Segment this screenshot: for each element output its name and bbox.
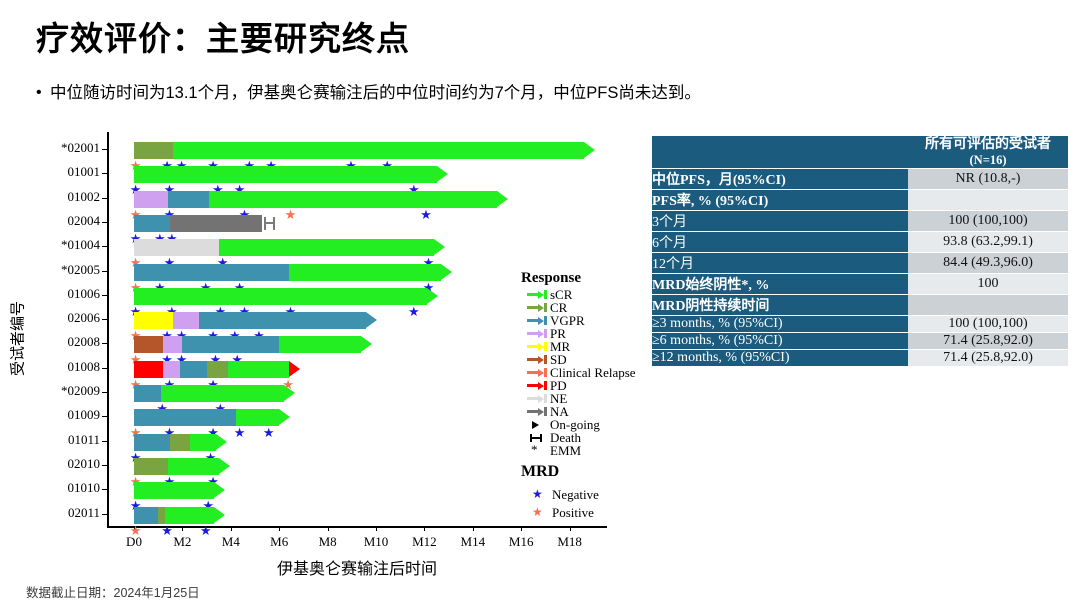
legend-item[interactable]: VGPR [526, 314, 643, 327]
legend-swatch-emm-icon: * [526, 444, 550, 457]
bar-segment-scr [161, 385, 284, 402]
slide-root: 疗效评价：主要研究终点 • 中位随访时间为13.1个月，伊基奥仑赛输注后的中位时… [0, 0, 1080, 616]
bar-segment-vgpr [134, 385, 161, 402]
legend-swatch-pd-icon [526, 379, 550, 392]
bar-segment-vgpr [134, 215, 170, 232]
bar-segment-cr [170, 434, 189, 451]
table-row-value: 100 [908, 274, 1068, 295]
bar-segment-cr [134, 458, 168, 475]
legend-item[interactable]: NE [526, 392, 643, 405]
table-row-value: NR (10.8,-) [908, 169, 1068, 190]
bar-segment-cr [158, 507, 165, 524]
table-row-value: 93.8 (63.2,99.1) [908, 232, 1068, 253]
bar-segment-pr [173, 312, 200, 329]
legend-mrd-items: ★Negative★Positive [518, 485, 643, 521]
table-row-label: 3个月 [652, 211, 908, 232]
table-row-label: PFS率, % (95%CI) [652, 190, 908, 211]
bar-segment-scr [289, 264, 441, 281]
table-row-label: 12个月 [652, 253, 908, 274]
legend-item[interactable]: PD [526, 379, 643, 392]
y-axis-tickmark [102, 198, 107, 199]
table-row-label: 6个月 [652, 232, 908, 253]
table-row-value [908, 190, 1068, 211]
bar-segment-scr [279, 336, 361, 353]
x-axis-tickmark [231, 526, 232, 531]
bar-segment-scr [190, 434, 217, 451]
bar-segment-pd [134, 361, 163, 378]
legend-item[interactable]: *EMM [526, 444, 643, 457]
x-axis-tickmark [570, 526, 571, 531]
progression-arrow-icon [289, 361, 300, 377]
table-row-value [908, 295, 1068, 316]
table-row[interactable] [0, 142, 640, 159]
ongoing-arrow-icon [497, 191, 508, 207]
y-axis-tickmark [102, 222, 107, 223]
table-row-value: 84.4 (49.3,96.0) [908, 253, 1068, 274]
legend-item-label: EMM [550, 444, 581, 457]
bar-segment-scr [228, 361, 289, 378]
legend-response-title: Response [521, 270, 643, 287]
legend-item[interactable]: sCR [526, 288, 643, 301]
bar-segment-scr [209, 191, 497, 208]
legend-swatch-mr-icon [526, 340, 550, 353]
legend-item[interactable]: MR [526, 340, 643, 353]
x-axis-label: 伊基奥仑赛输注后时间 [107, 555, 607, 579]
legend-swatch-clinical-relapse-icon [526, 366, 550, 379]
ongoing-arrow-icon [219, 458, 230, 474]
table-row[interactable]: ≥6 months, % (95%CI)71.4 (25.8,92.0) [652, 333, 1068, 350]
bar-segment-scr [134, 166, 437, 183]
y-axis-tickmark [102, 392, 107, 393]
death-marker-icon [264, 217, 275, 230]
y-axis-tickmark [102, 295, 107, 296]
y-axis-tickmark [102, 343, 107, 344]
bullet-text: 中位随访时间为13.1个月，伊基奥仑赛输注后的中位时间约为7个月，中位PFS尚未… [50, 82, 701, 104]
table-row-label: MRD阴性持续时间 [652, 295, 908, 316]
ongoing-arrow-icon [214, 482, 225, 498]
x-axis-tickmark [279, 526, 280, 531]
bar-segment-scr [173, 142, 584, 159]
bar-segment-cr [207, 361, 229, 378]
bar-segment-vgpr [134, 409, 236, 426]
y-axis-tickmark [102, 319, 107, 320]
legend-item[interactable]: ★Positive [528, 503, 643, 521]
x-axis-tickmark [182, 526, 183, 531]
x-axis-tick-label: M6 [270, 534, 288, 550]
table-row-value: 100 (100,100) [908, 316, 1068, 333]
table-row-value: 100 (100,100) [908, 211, 1068, 232]
legend-swatch-scr-icon [526, 288, 550, 301]
bar-segment-ne [134, 239, 219, 256]
table-row[interactable]: 3个月100 (100,100) [652, 211, 1068, 232]
table-row-label: ≥6 months, % (95%CI) [652, 333, 908, 350]
bar-segment-scr [168, 458, 219, 475]
x-axis-tickmark [473, 526, 474, 531]
legend-item-label: Negative [552, 488, 599, 501]
y-axis-tickmark [102, 514, 107, 515]
mrd-negative-marker-icon: ★ [200, 525, 212, 538]
legend-swatch-pr-icon [526, 327, 550, 340]
legend-item[interactable]: ★Negative [528, 485, 643, 503]
table-row-value: 71.4 (25.8,92.0) [908, 350, 1068, 367]
bar-segment-scr [219, 239, 434, 256]
table-row[interactable]: MRD始终阴性*, %100 [652, 274, 1068, 295]
ongoing-arrow-icon [434, 239, 445, 255]
x-axis-tickmark [521, 526, 522, 531]
table-header-row: 所有可评估的受试者(N=16) [652, 136, 1068, 169]
x-axis-tickmark [328, 526, 329, 531]
footer-note: 数据截止日期：2024年1月25日 [26, 582, 200, 601]
bar-segment-na [170, 215, 262, 232]
legend-mrd-negative-icon: ★ [528, 488, 552, 501]
swimmer-plot: 受试者编号 *02001010010100202004*01004*020050… [0, 130, 640, 570]
table-row[interactable] [0, 215, 640, 232]
bar-segment-vgpr [134, 434, 170, 451]
ongoing-arrow-icon [584, 142, 595, 158]
ongoing-arrow-icon [216, 434, 227, 450]
mrd-negative-marker-icon: ★ [161, 525, 173, 538]
x-axis-tick-label: M8 [319, 534, 337, 550]
page-title: 疗效评价：主要研究终点 [36, 12, 410, 60]
legend-mrd-positive-icon: ★ [528, 506, 552, 519]
bullet-marker: • [36, 82, 50, 104]
y-axis-tickmark [102, 441, 107, 442]
table-row-label: ≥3 months, % (95%CI) [652, 316, 908, 333]
table-row-label: MRD始终阴性*, % [652, 274, 908, 295]
bar-segment-mr [134, 312, 173, 329]
legend-item[interactable]: Death [526, 431, 643, 444]
table-row[interactable] [0, 239, 640, 256]
bar-segment-pr [163, 336, 182, 353]
bar-segment-pr [134, 191, 168, 208]
table-row[interactable] [0, 191, 640, 208]
table-row[interactable]: PFS率, % (95%CI) [652, 190, 1068, 211]
table-row-label: ≥12 months, % (95%CI) [652, 350, 908, 367]
x-axis-tick-label: M18 [557, 534, 582, 550]
table-row-label: 中位PFS，月(95%CI) [652, 169, 908, 190]
ongoing-arrow-icon [366, 312, 377, 328]
x-axis-tick-label: M14 [461, 534, 486, 550]
table-row[interactable]: MRD阴性持续时间 [652, 295, 1068, 316]
table-row[interactable] [0, 166, 640, 183]
y-axis-tickmark [102, 149, 107, 150]
bar-segment-vgpr [182, 336, 279, 353]
x-axis-tick-label: M4 [222, 534, 240, 550]
legend-swatch-death-icon [526, 431, 550, 444]
bar-segment-scr [134, 288, 427, 305]
y-axis-tickmark [102, 246, 107, 247]
results-table: 所有可评估的受试者(N=16)中位PFS，月(95%CI)NR (10.8,-)… [652, 136, 1068, 366]
x-axis-tick-label: M10 [364, 534, 389, 550]
ongoing-arrow-icon [437, 166, 448, 182]
ongoing-arrow-icon [361, 336, 372, 352]
bar-segment-scr [134, 482, 214, 499]
y-axis-tickmark [102, 173, 107, 174]
y-axis-tickmark [102, 465, 107, 466]
bar-segment-vgpr [134, 264, 289, 281]
bar-segment-vgpr [199, 312, 366, 329]
bar-segment-vgpr [168, 191, 209, 208]
legend-swatch-cr-icon [526, 301, 550, 314]
ongoing-arrow-icon [279, 409, 290, 425]
legend-item[interactable]: On-going [526, 418, 643, 431]
mrd-positive-marker-icon: ★ [130, 525, 142, 538]
ongoing-arrow-icon [441, 264, 452, 280]
legend-item-label: Positive [552, 506, 594, 519]
bar-segment-scr [165, 507, 213, 524]
legend-swatch-vgpr-icon [526, 314, 550, 327]
table-row[interactable]: 中位PFS，月(95%CI)NR (10.8,-) [652, 169, 1068, 190]
x-axis-tickmark [376, 526, 377, 531]
legend-swatch-sd-icon [526, 353, 550, 366]
ongoing-arrow-icon [427, 288, 438, 304]
bar-segment-vgpr [134, 507, 158, 524]
legend-mrd-title: MRD [521, 463, 643, 481]
y-axis-tickmark [102, 489, 107, 490]
x-axis-tick-label: M2 [173, 534, 191, 550]
legend-item[interactable]: PR [526, 327, 643, 340]
bar-segment-cr [134, 142, 173, 159]
legend-swatch-on-going-icon [526, 418, 550, 431]
table-row[interactable]: ≥3 months, % (95%CI)100 (100,100) [652, 316, 1068, 333]
legend-item[interactable]: Clinical Relapse [526, 366, 643, 379]
y-axis-tickmark [102, 368, 107, 369]
legend-swatch-ne-icon [526, 392, 550, 405]
chart-legend: Response sCRCRVGPRPRMRSDClinical Relapse… [518, 270, 643, 521]
legend-swatch-na-icon [526, 405, 550, 418]
table-header-column: 所有可评估的受试者(N=16) [908, 136, 1068, 169]
legend-response-items: sCRCRVGPRPRMRSDClinical RelapsePDNENAOn-… [518, 288, 643, 457]
table-row[interactable]: 12个月84.4 (49.3,96.0) [652, 253, 1068, 274]
y-axis-tickmark [102, 271, 107, 272]
table-row[interactable]: ≥12 months, % (95%CI)71.4 (25.8,92.0) [652, 350, 1068, 367]
bar-segment-scr [236, 409, 280, 426]
table-row[interactable]: 6个月93.8 (63.2,99.1) [652, 232, 1068, 253]
table-row-value: 71.4 (25.8,92.0) [908, 333, 1068, 350]
y-axis-tickmark [102, 416, 107, 417]
bullet-point: • 中位随访时间为13.1个月，伊基奥仑赛输注后的中位时间约为7个月，中位PFS… [36, 82, 701, 104]
x-axis-tick-label: M16 [509, 534, 534, 550]
bar-segment-pr [163, 361, 180, 378]
bar-segment-vgpr [180, 361, 207, 378]
ongoing-arrow-icon [214, 507, 225, 523]
bar-segment-sd [134, 336, 163, 353]
table-header-blank [652, 136, 908, 169]
ongoing-arrow-icon [284, 385, 295, 401]
x-axis-tick-label: M12 [412, 534, 437, 550]
x-axis-tickmark [424, 526, 425, 531]
